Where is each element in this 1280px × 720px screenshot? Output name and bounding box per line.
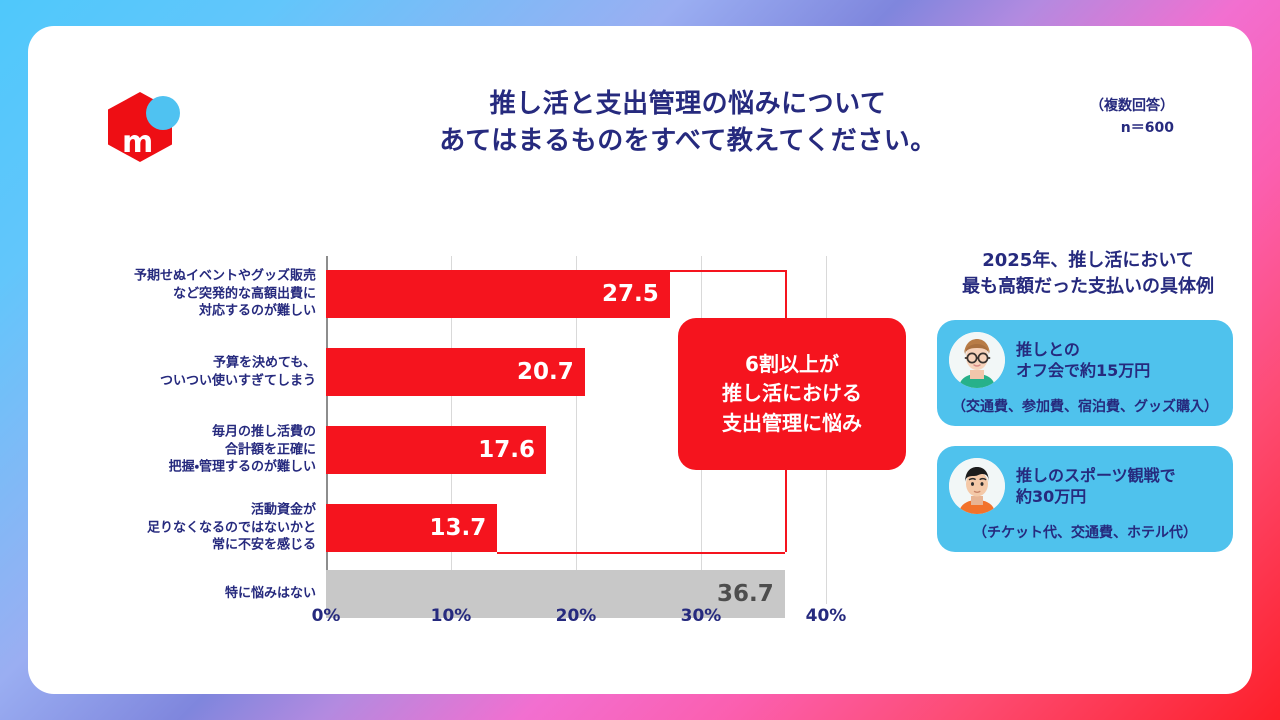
category-label-1: 予期せぬイベントやグッズ販売 など突発的な高額出費に 対応するのが難しい [88, 268, 316, 321]
bracket-top-line [670, 270, 785, 272]
x-tick-20pct: 20% [546, 606, 606, 626]
x-tick-10pct: 10% [421, 606, 481, 626]
mercari-logo: m [102, 86, 182, 166]
examples-panel: 2025年、推し活において 最も高額だった支払いの具体例 [923, 248, 1253, 552]
category-label-4: 活動資金が 足りなくなるのではないかと 常に不安を感じる [88, 502, 316, 555]
category-label-3: 毎月の推し活費の 合計額を正確に 把握・管理するのが難しい [88, 424, 316, 477]
logo-letter: m [122, 128, 153, 158]
example-card-1-subtext: （交通費、参加費、宿泊費、グッズ購入） [949, 396, 1221, 416]
bar-1[interactable]: 27.5 [326, 270, 670, 318]
example-card-1-text: 推しとの オフ会で約15万円 [1016, 339, 1150, 382]
content-card: m 推し活と支出管理の悩みについて あてはまるものをすべて教えてください。 （複… [28, 26, 1252, 694]
bar-row: 13.7 [326, 504, 826, 552]
bar-row: 27.5 [326, 270, 826, 318]
example-card-2-subtext: （チケット代、交通費、ホテル代） [949, 522, 1221, 542]
category-label-2: 予算を決めても、 ついつい使いすぎてしまう [88, 354, 316, 389]
woman-with-glasses-avatar [949, 332, 1005, 388]
x-tick-40pct: 40% [796, 606, 856, 626]
bar-value-label: 36.7 [717, 581, 774, 607]
bar-value-label: 20.7 [517, 359, 574, 385]
man-avatar [949, 458, 1005, 514]
example-card-2-top: 推しのスポーツ観戦で 約30万円 [949, 458, 1221, 514]
example-card-1: 推しとの オフ会で約15万円 （交通費、参加費、宿泊費、グッズ購入） [937, 320, 1233, 426]
example-card-2-text: 推しのスポーツ観戦で 約30万円 [1016, 465, 1176, 508]
example-card-1-top: 推しとの オフ会で約15万円 [949, 332, 1221, 388]
bar-value-label: 27.5 [602, 281, 659, 307]
x-tick-30pct: 30% [671, 606, 731, 626]
page-title: 推し活と支出管理の悩みについて あてはまるものをすべて教えてください。 [308, 86, 1068, 160]
bracket-bottom-line [497, 552, 785, 554]
slide-canvas: m 推し活と支出管理の悩みについて あてはまるものをすべて教えてください。 （複… [0, 0, 1280, 720]
blue-dot-icon [146, 96, 180, 130]
bar-value-label: 13.7 [430, 515, 487, 541]
bar-2[interactable]: 20.7 [326, 348, 585, 396]
bar-value-label: 17.6 [478, 437, 535, 463]
example-card-2: 推しのスポーツ観戦で 約30万円 （チケット代、交通費、ホテル代） [937, 446, 1233, 552]
category-label-5: 特に悩みはない [88, 585, 316, 603]
sample-size-note: （複数回答） n＝600 [1090, 96, 1174, 139]
bar-3[interactable]: 17.6 [326, 426, 546, 474]
x-tick-0pct: 0% [296, 606, 356, 626]
examples-heading: 2025年、推し活において 最も高額だった支払いの具体例 [923, 248, 1253, 300]
bar-4[interactable]: 13.7 [326, 504, 497, 552]
callout-box: 6割以上が 推し活における 支出管理に悩み [678, 318, 906, 470]
